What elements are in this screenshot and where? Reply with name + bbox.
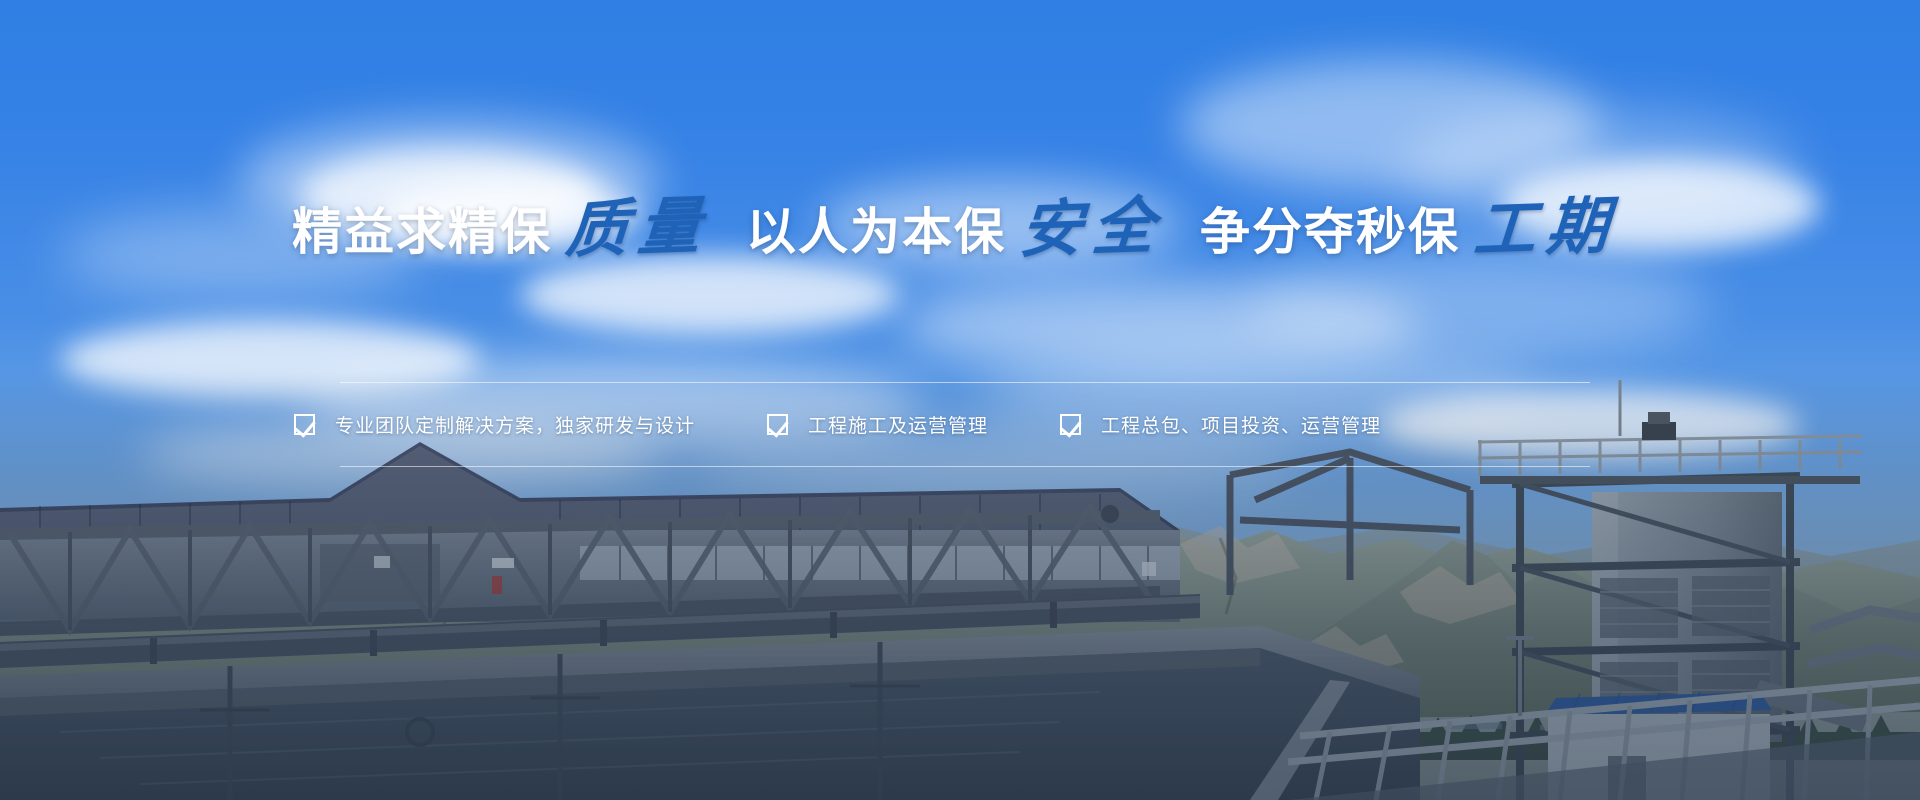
checkbox-checked-icon (294, 414, 315, 435)
checkbox-checked-icon (1060, 414, 1081, 435)
feature-item-construction[interactable]: 工程施工及运营管理 (767, 411, 988, 438)
feature-label-construction: 工程施工及运营管理 (808, 411, 988, 438)
feature-item-solutions[interactable]: 专业团队定制解决方案，独家研发与设计 (294, 411, 695, 438)
checkbox-checked-icon (767, 414, 788, 435)
hero-banner: 精益求精保 质量 以人为本保 安全 争分夺秒保 工期 专业团队定制解决方案，独家… (0, 0, 1920, 800)
headline-slogan: 精益求精保 质量 以人为本保 安全 争分夺秒保 工期 (0, 198, 1920, 260)
headline-plain-2: 以人为本保 (746, 207, 1006, 257)
gantry-frame (1230, 452, 1470, 595)
headline-plain-3: 争分夺秒保 (1200, 207, 1460, 257)
headline-calligraphy-safety: 安全 (1018, 196, 1167, 263)
feature-label-solutions: 专业团队定制解决方案，独家研发与设计 (335, 411, 695, 438)
divider-bottom (340, 466, 1590, 467)
headline-calligraphy-schedule: 工期 (1472, 196, 1621, 263)
feature-list: 专业团队定制解决方案，独家研发与设计 工程施工及运营管理 工程总包、项目投资、运… (340, 382, 1590, 467)
feature-item-epc[interactable]: 工程总包、项目投资、运营管理 (1060, 411, 1381, 438)
feature-row: 专业团队定制解决方案，独家研发与设计 工程施工及运营管理 工程总包、项目投资、运… (340, 383, 1590, 466)
headline-calligraphy-quality: 质量 (564, 196, 713, 263)
feature-label-epc: 工程总包、项目投资、运营管理 (1101, 411, 1381, 438)
headline-plain-1: 精益求精保 (292, 207, 552, 257)
